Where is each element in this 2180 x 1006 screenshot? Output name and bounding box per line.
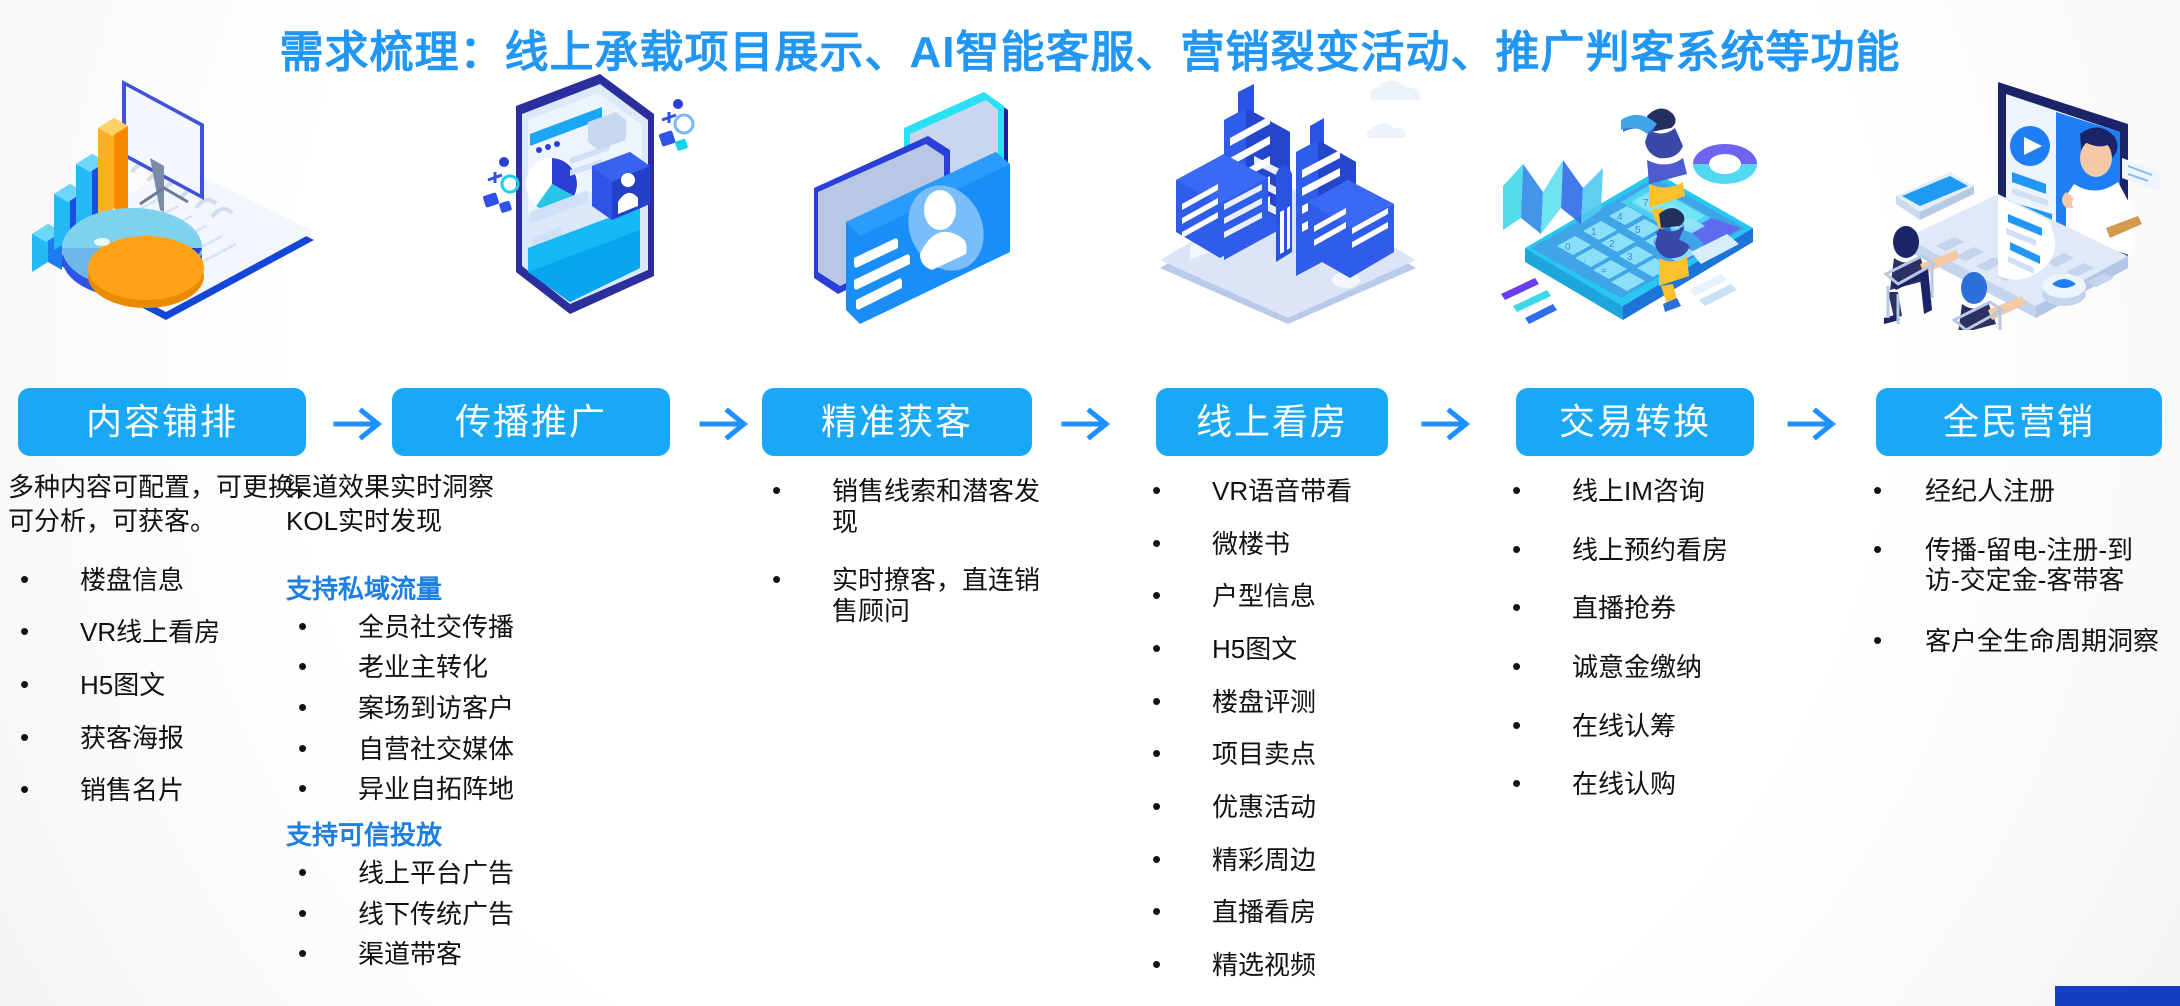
list-item: 精彩周边 — [1140, 845, 1440, 876]
svg-text:4: 4 — [1617, 212, 1623, 223]
list-item: 直播抢券 — [1500, 593, 1800, 624]
svg-text:2: 2 — [1609, 239, 1615, 250]
stage-section-heading-trusted-ads: 支持可信投放 — [286, 815, 616, 852]
calculator-analytics-people-illustration: 0147 .258 =369 — [1495, 68, 1775, 336]
profile-id-card-illustration — [800, 88, 1050, 356]
svg-text:0: 0 — [1565, 242, 1571, 253]
list-item: 线下传统广告 — [286, 899, 616, 930]
stage-feature-list-trusted-ads: 线上平台广告 线下传统广告 渠道带客 — [286, 858, 616, 970]
list-item: 在线认筹 — [1500, 711, 1800, 742]
stage-pill-precise-acquisition[interactable]: 精准获客 — [762, 388, 1032, 456]
list-item: 微楼书 — [1140, 529, 1440, 560]
list-item: 线上IM咨询 — [1500, 476, 1800, 507]
flow-arrow-icon-1 — [332, 404, 388, 444]
list-item: 优惠活动 — [1140, 792, 1440, 823]
stage-column-online-viewing: VR语音带看 微楼书 户型信息 H5图文 楼盘评测 项目卖点 优惠活动 精彩周边… — [1140, 476, 1440, 1003]
list-item: 异业自拓阵地 — [286, 774, 616, 805]
flow-arrow-icon-3 — [1060, 404, 1116, 444]
corner-accent-bar — [2055, 986, 2180, 1006]
stage-feature-list: 销售线索和潜客发现 实时撩客，直连销售顾问 — [760, 476, 1050, 627]
stage-pill-spread-promotion[interactable]: 传播推广 — [392, 388, 670, 456]
svg-text:3: 3 — [1627, 252, 1633, 263]
laptop-live-video-audience-illustration — [1870, 62, 2160, 330]
stage-feature-list: 线上IM咨询 线上预约看房 直播抢券 诚意金缴纳 在线认筹 在线认购 — [1500, 476, 1800, 800]
smartphone-app-illustration — [470, 62, 710, 330]
stage-column-all-people-marketing: 经纪人注册 传播-留电-注册-到访-交定金-客带客 客户全生命周期洞察 — [1865, 476, 2165, 685]
stage-column-precise-acquisition: 销售线索和潜客发现 实时撩客，直连销售顾问 — [760, 476, 1050, 655]
list-item: 户型信息 — [1140, 581, 1440, 612]
list-item: 全员社交传播 — [286, 612, 616, 643]
slide-canvas: 需求梳理：线上承载项目展示、AI智能客服、营销裂变活动、推广判客系统等功能 — [0, 0, 2180, 1006]
list-item: 案场到访客户 — [286, 693, 616, 724]
list-item: 精选视频 — [1140, 950, 1440, 981]
stage-feature-list: 经纪人注册 传播-留电-注册-到访-交定金-客带客 客户全生命周期洞察 — [1865, 476, 2165, 657]
stage-feature-list: VR语音带看 微楼书 户型信息 H5图文 楼盘评测 项目卖点 优惠活动 精彩周边… — [1140, 476, 1440, 981]
svg-text:7: 7 — [1643, 198, 1649, 209]
list-item: 直播看房 — [1140, 897, 1440, 928]
bar-pie-chart-notebook-illustration — [14, 62, 334, 330]
flow-arrow-icon-2 — [698, 404, 754, 444]
stage-pill-online-viewing[interactable]: 线上看房 — [1156, 388, 1388, 456]
svg-text:1: 1 — [1591, 227, 1597, 238]
list-item: 经纪人注册 — [1865, 476, 2165, 507]
flow-arrow-icon-5 — [1786, 404, 1842, 444]
list-item: 在线认购 — [1500, 769, 1800, 800]
stage-section-heading-private-traffic: 支持私域流量 — [286, 569, 616, 606]
list-item: 销售线索和潜客发现 — [760, 476, 1050, 537]
list-item: 项目卖点 — [1140, 739, 1440, 770]
list-item: 实时撩客，直连销售顾问 — [760, 565, 1050, 626]
stage-pill-content-layout[interactable]: 内容铺排 — [18, 388, 306, 456]
list-item: 线上平台广告 — [286, 858, 616, 889]
list-item: 楼盘评测 — [1140, 687, 1440, 718]
svg-text:.: . — [1583, 254, 1586, 265]
list-item: 老业主转化 — [286, 652, 616, 683]
list-item: VR语音带看 — [1140, 476, 1440, 507]
stage-pill-all-people-marketing[interactable]: 全民营销 — [1876, 388, 2162, 456]
list-item: 传播-留电-注册-到访-交定金-客带客 — [1865, 535, 2165, 596]
list-item: 客户全生命周期洞察 — [1865, 626, 2165, 657]
list-item: 渠道带客 — [286, 939, 616, 970]
list-item: 线上预约看房 — [1500, 535, 1800, 566]
list-item: 诚意金缴纳 — [1500, 652, 1800, 683]
svg-text:5: 5 — [1635, 225, 1641, 236]
list-item: H5图文 — [1140, 634, 1440, 665]
stage-pill-transaction-conversion[interactable]: 交易转换 — [1516, 388, 1754, 456]
stage-feature-list-private-traffic: 全员社交传播 老业主转化 案场到访客户 自营社交媒体 异业自拓阵地 — [286, 612, 616, 805]
stage-column-spread-promotion: 渠道效果实时洞察 KOL实时发现 支持私域流量 全员社交传播 老业主转化 案场到… — [286, 470, 616, 980]
svg-text:=: = — [1601, 266, 1607, 277]
flow-arrow-icon-4 — [1420, 404, 1476, 444]
list-item: 自营社交媒体 — [286, 734, 616, 765]
stage-column-transaction-conversion: 线上IM咨询 线上预约看房 直播抢券 诚意金缴纳 在线认筹 在线认购 — [1500, 476, 1800, 828]
city-buildings-on-phone-illustration — [1150, 62, 1420, 330]
stage-lead-text: 渠道效果实时洞察 KOL实时发现 — [286, 470, 616, 539]
